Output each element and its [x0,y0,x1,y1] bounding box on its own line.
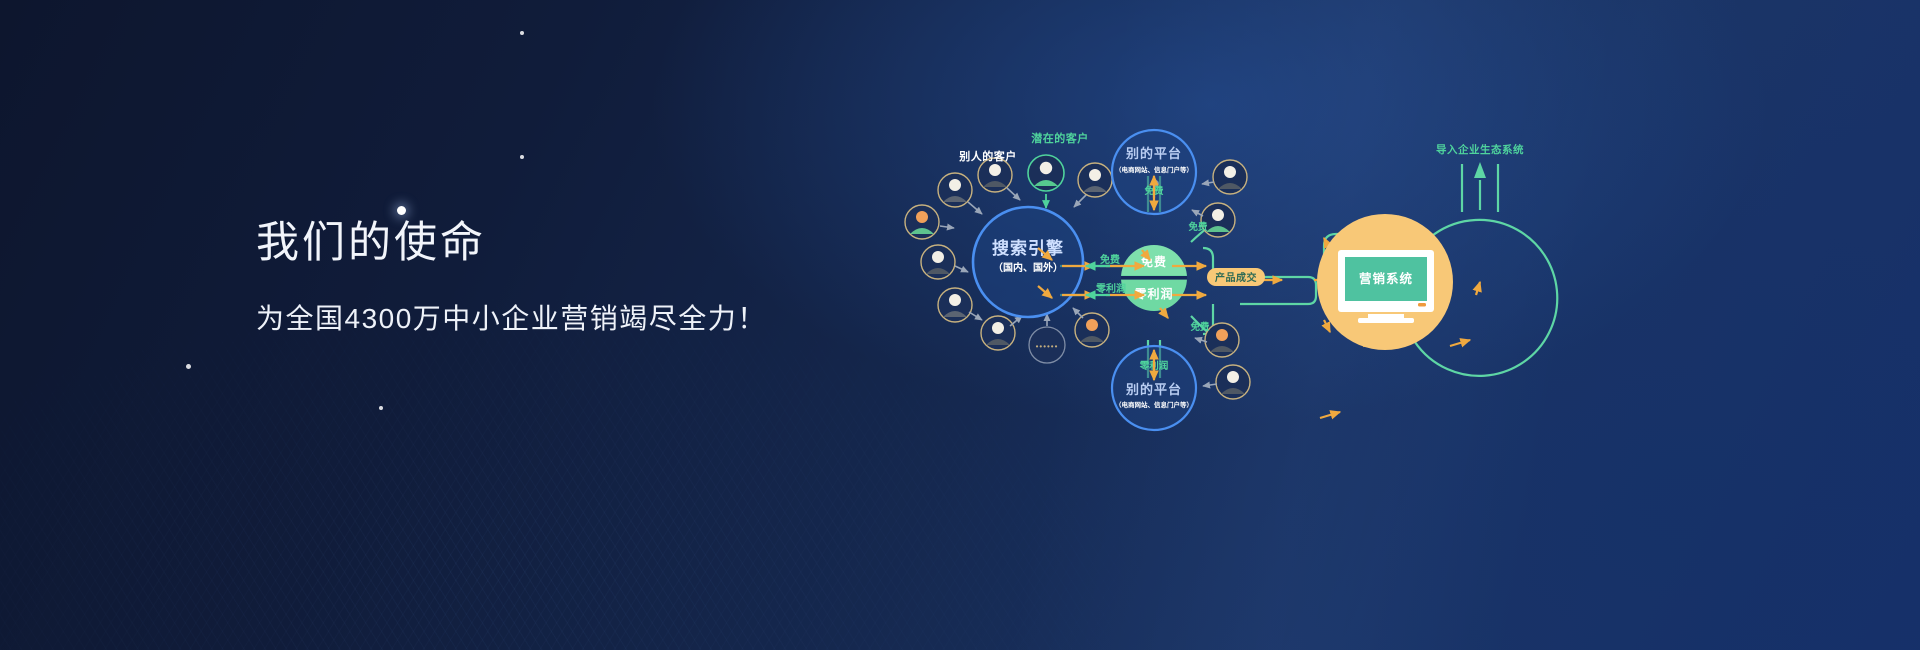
marketing-system-label: 营销系统 [1359,271,1413,286]
avatar-node [981,316,1022,350]
mission-subtitle: 为全国4300万中小企业营销竭尽全力！ [256,305,767,333]
edge-label-free-top-right: 免费 [1188,221,1208,233]
deal-pill-label: 产品成交 [1215,271,1257,284]
more-dots-label: •••••• [1036,342,1059,351]
avatar-node [938,288,982,322]
edge-label-zero-profit-search-out: 零利润 [1095,282,1126,295]
edge-label-free-search-out: 免费 [1100,253,1120,266]
label-potential-customers: 潜在的客户 [1031,131,1089,145]
spark-dot-4 [379,406,383,410]
avatar-node [978,158,1020,200]
edge-label-free-bottom-right: 免费 [1190,321,1210,333]
hub-bottom-label: 零利润 [1133,286,1173,301]
hub-top-label: 免费 [1141,254,1167,269]
node-conversion-hub: 免费 零利润 [1121,245,1187,311]
node-search-engine: 搜索引擎 （国内、国外） [973,207,1083,317]
avatar-node [1073,308,1109,347]
platform-top-title: 别的平台 [1125,146,1182,161]
node-marketing-system: 营销系统 [1317,214,1453,350]
deal-pill: 产品成交 [1207,268,1265,286]
avatar-node [1203,365,1250,399]
avatar-node-potential [1028,155,1064,208]
avatar-node-more: •••••• [1029,314,1065,363]
page-title: 我们的使命 [256,222,767,265]
spark-dot-1 [520,155,524,159]
avatar-node [905,205,954,239]
marketing-ecosystem-diagram: •••••• 搜索引擎 （国内、国外） 别的平台 （电商网站、信息门户等） 免费… [910,150,1550,510]
search-engine-title: 搜索引擎 [992,238,1064,258]
spark-dot-2 [397,206,406,215]
spark-dot-3 [186,364,191,369]
platform-bottom-title: 别的平台 [1125,382,1182,397]
label-others-customers: 别人的客户 [958,149,1017,163]
label-import-ecosystem: 导入企业生态系统 [1436,143,1524,156]
spark-dot-0 [520,31,524,35]
platform-bottom-subtitle: （电商网站、信息门户等） [1115,400,1193,409]
mission-text-block: 我们的使命 为全国4300万中小企业营销竭尽全力！ [256,222,767,333]
search-engine-subtitle: （国内、国外） [993,261,1063,274]
import-ecosystem-group: 导入企业生态系统 [1436,143,1524,212]
avatar-node [938,173,982,214]
avatar-node [1074,163,1112,207]
platform-top-subtitle: （电商网站、信息门户等） [1115,165,1193,174]
avatar-node [1202,160,1247,194]
avatar-node [921,245,968,279]
